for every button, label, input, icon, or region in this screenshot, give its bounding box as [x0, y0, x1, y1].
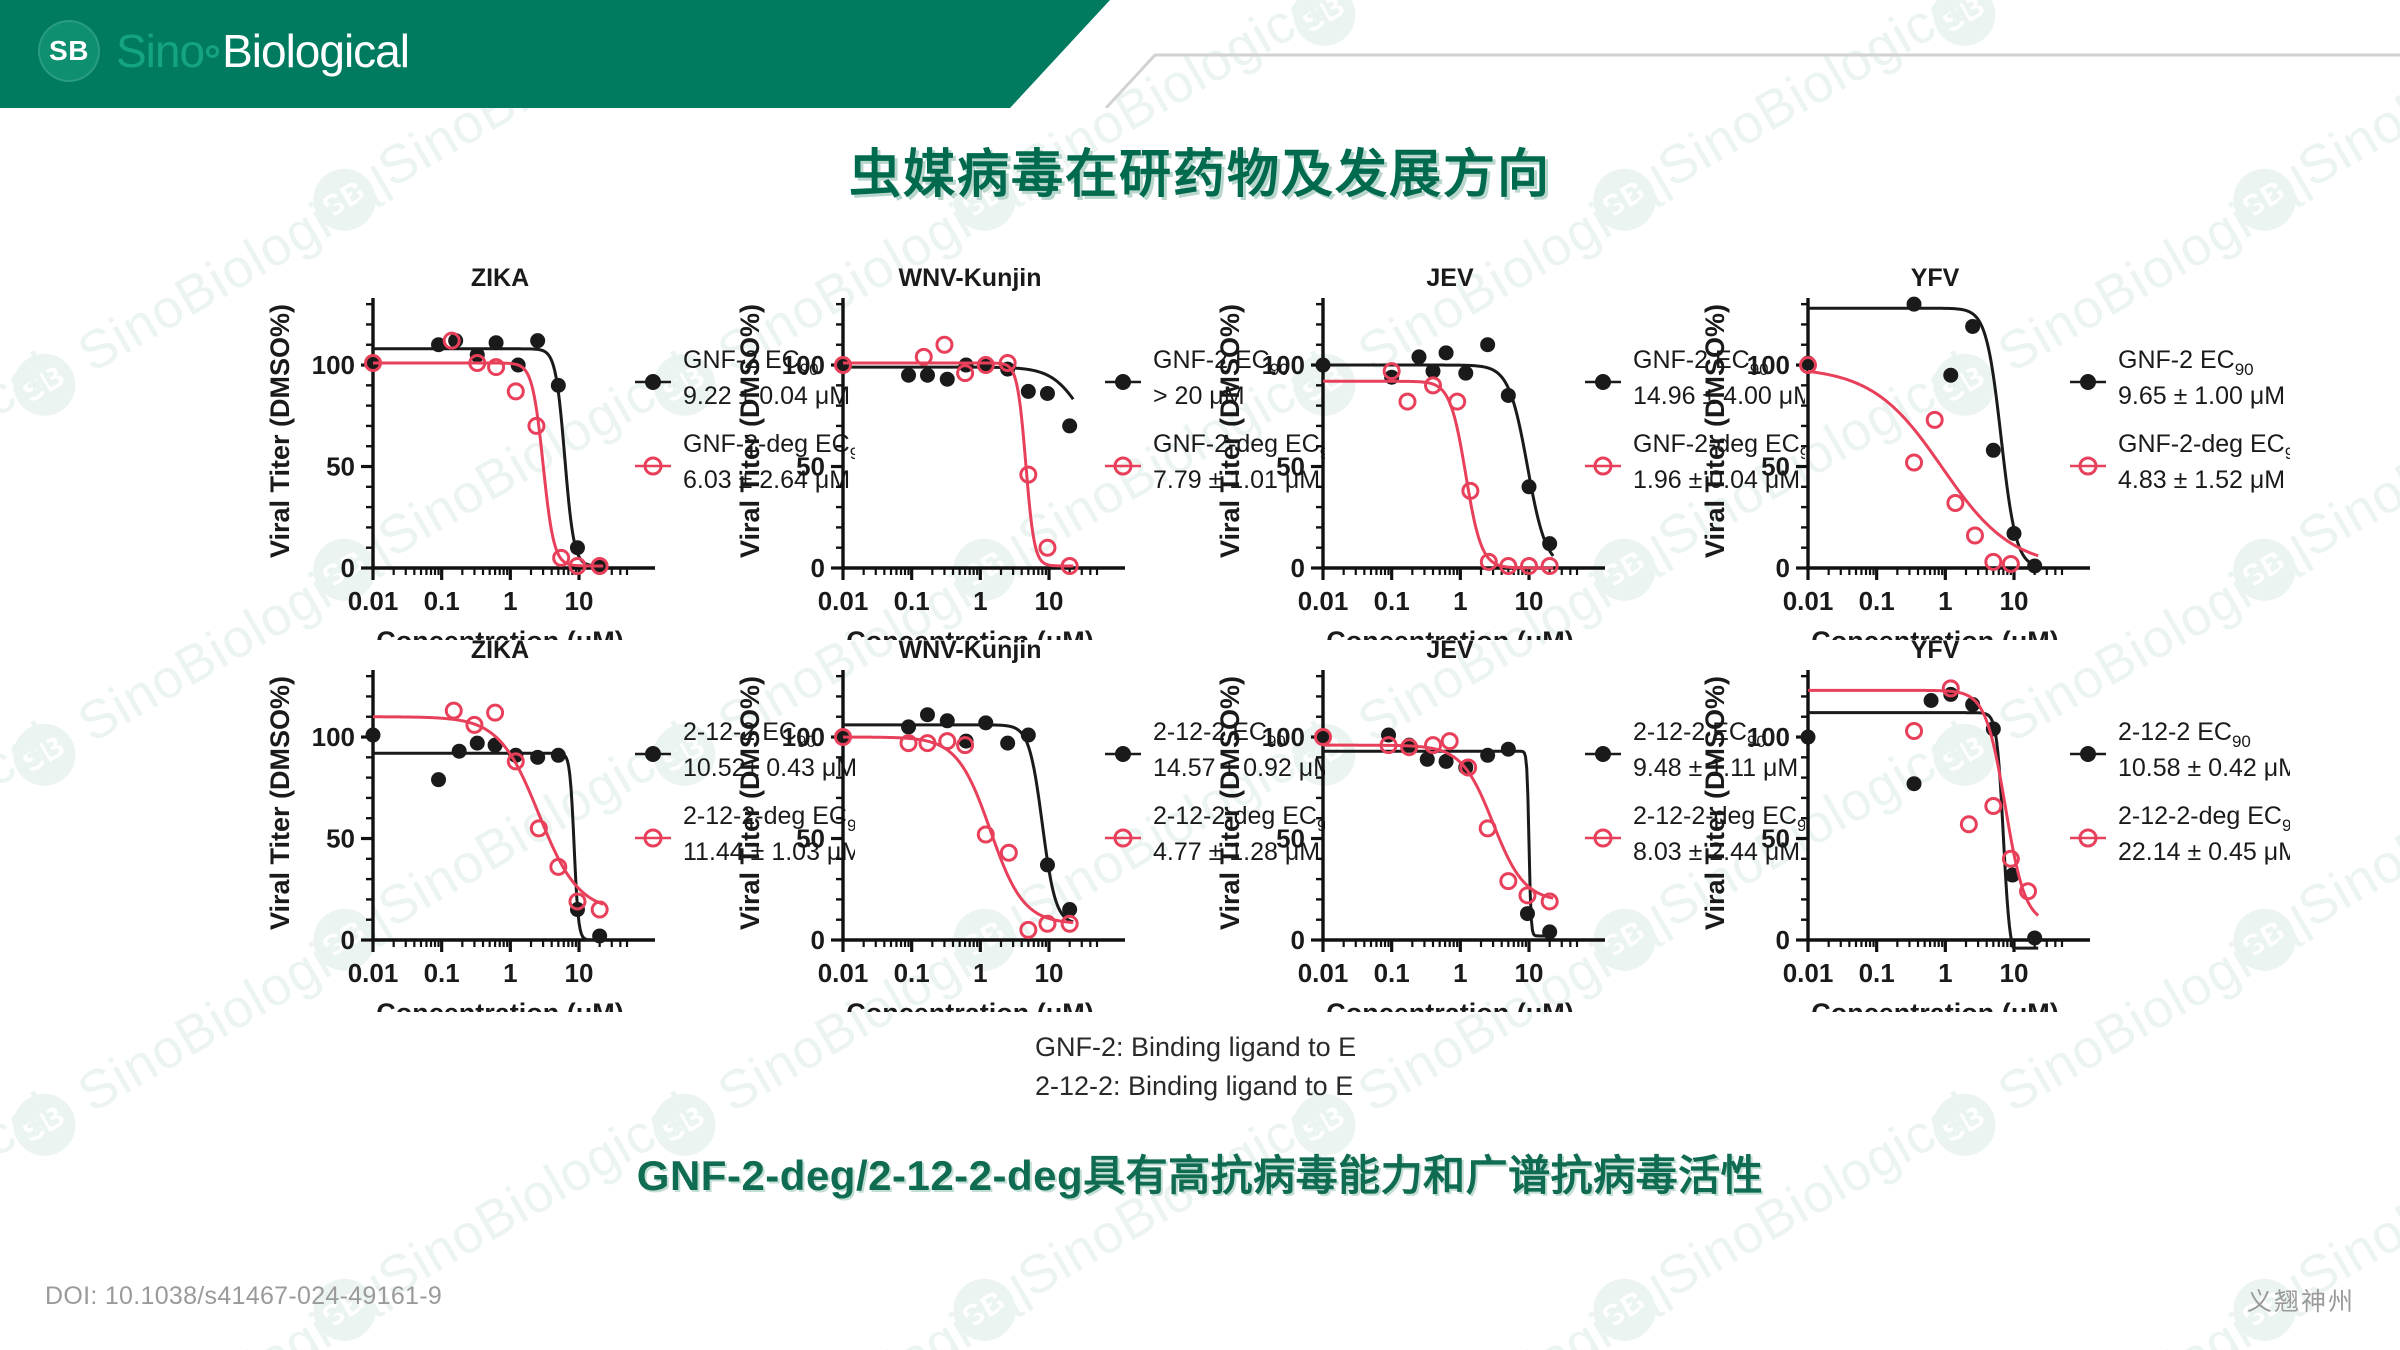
x-axis-label: Concentration (μM): [1326, 626, 1574, 640]
y-tick-label: 100: [312, 350, 355, 380]
data-point: [1986, 799, 2001, 814]
legend-marker-filled-icon: [2080, 746, 2096, 762]
data-point: [1021, 922, 1036, 937]
data-point: [1927, 412, 1942, 427]
fit-curve: [373, 349, 603, 566]
logo-text-sino: Sino: [116, 25, 204, 77]
watermark-item: SBSinoBiological: [1280, 1264, 1686, 1350]
watermark-item: SBSinoBiological: [640, 1264, 1046, 1350]
fit-curve: [843, 725, 1073, 922]
x-tick-label: 0.1: [424, 958, 460, 988]
data-point: [1480, 337, 1495, 352]
data-point: [470, 736, 485, 751]
x-tick-label: 10: [1035, 958, 1064, 988]
fit-curve: [1323, 751, 1553, 936]
data-point: [1021, 384, 1036, 399]
x-tick-label: 0.01: [818, 958, 869, 988]
x-tick-label: 10: [1035, 586, 1064, 616]
x-tick-label: 10: [1515, 958, 1544, 988]
footer-doi: DOI: 10.1038/s41467-024-49161-9: [45, 1282, 442, 1311]
header-accent-rule: [1060, 0, 2400, 108]
legend-value: 4.83 ± 1.52 μM: [2118, 466, 2285, 494]
data-point: [1501, 742, 1516, 757]
y-axis-label: Viral Titer (DMSO%): [735, 304, 765, 558]
y-axis-label: Viral Titer (DMSO%): [1700, 676, 1730, 930]
data-point: [978, 715, 993, 730]
fit-curve: [1323, 745, 1553, 898]
chart-title: JEV: [1426, 268, 1474, 292]
x-axis-ticks: 0.010.1110: [348, 568, 627, 616]
data-point: [1520, 888, 1535, 903]
legend-entry: 2-12-2 EC9010.58 ± 0.42 μM: [2070, 718, 2290, 782]
data-point: [530, 333, 545, 348]
series-2: [1323, 364, 1557, 574]
axes: [843, 298, 1125, 568]
fit-curve: [1323, 381, 1553, 568]
fit-curve: [373, 363, 603, 566]
y-tick-label: 100: [782, 722, 825, 752]
x-axis-ticks: 0.010.1110: [348, 940, 627, 988]
chart-title: ZIKA: [471, 268, 529, 292]
y-tick-label: 100: [782, 350, 825, 380]
series-1: [1316, 728, 1558, 940]
data-point: [2007, 526, 2022, 541]
data-point: [1450, 394, 1465, 409]
data-point: [1439, 345, 1454, 360]
data-point: [920, 707, 935, 722]
y-axis-ticks: 050100: [782, 304, 843, 583]
data-point: [1522, 479, 1537, 494]
data-point: [1000, 736, 1015, 751]
series-1: [1316, 337, 1558, 556]
data-point: [551, 378, 566, 393]
fit-curve: [1808, 690, 2038, 915]
charts-grid: ZIKA0501000.010.1110Concentration (μM)Vi…: [0, 268, 2400, 1012]
data-point: [1907, 297, 1922, 312]
legend-marker-filled-icon: [645, 746, 661, 762]
fit-curve: [843, 363, 1073, 566]
axes: [1808, 298, 2090, 568]
y-tick-label: 100: [1262, 722, 1305, 752]
series-2: [836, 730, 1078, 938]
y-tick-label: 50: [796, 824, 825, 854]
legend-entry: 2-12-2-deg EC9022.14 ± 0.45 μM: [2070, 802, 2290, 866]
chart-row-bottom: ZIKA0501000.010.1110Concentration (μM)Vi…: [0, 640, 2400, 1012]
data-point: [1961, 817, 1976, 832]
footnote-2-12-2: 2-12-2: Binding ligand to E: [1035, 1067, 1356, 1106]
data-point: [1021, 728, 1036, 743]
watermark-item: SBSinoBiological: [940, 1079, 1346, 1350]
legend-label: GNF-2-deg EC90: [2118, 430, 2290, 463]
x-tick-label: 0.1: [1374, 958, 1410, 988]
legend-label: 2-12-2 EC90: [2118, 718, 2251, 751]
series-1: [836, 707, 1078, 922]
axes: [1323, 670, 1605, 940]
y-tick-label: 50: [1761, 824, 1790, 854]
y-tick-label: 100: [312, 722, 355, 752]
chart-title: WNV-Kunjin: [898, 640, 1041, 664]
x-tick-label: 10: [1515, 586, 1544, 616]
y-axis-label: Viral Titer (DMSO%): [1215, 304, 1245, 558]
data-point: [488, 705, 503, 720]
x-tick-label: 0.1: [1859, 586, 1895, 616]
x-tick-label: 0.01: [1783, 586, 1834, 616]
y-tick-label: 0: [811, 925, 825, 955]
series-1: [1801, 297, 2043, 574]
series-2: [1316, 730, 1558, 909]
data-point: [1520, 906, 1535, 921]
y-tick-label: 0: [1291, 925, 1305, 955]
data-point: [1316, 358, 1331, 373]
chart-yfv-0: YFV0501000.010.1110Concentration (μM)Vir…: [1690, 268, 2290, 640]
x-tick-label: 10: [565, 586, 594, 616]
y-tick-label: 0: [811, 553, 825, 583]
data-point: [937, 337, 952, 352]
y-axis-ticks: 050100: [1747, 676, 1808, 955]
logo-wordmark: SinoBiological: [116, 28, 409, 74]
y-axis-ticks: 050100: [312, 304, 373, 583]
conclusion-text: GNF-2-deg/2-12-2-deg具有高抗病毒能力和广谱抗病毒活性: [0, 1142, 2400, 1203]
axes: [1323, 298, 1605, 568]
x-axis-ticks: 0.010.1110: [818, 940, 1097, 988]
legend-marker-filled-icon: [1595, 746, 1611, 762]
data-point: [1040, 540, 1055, 555]
y-axis-ticks: 050100: [1262, 676, 1323, 955]
x-tick-label: 1: [1938, 958, 1952, 988]
series-1: [366, 728, 608, 944]
axes: [373, 670, 655, 940]
y-tick-label: 50: [1761, 452, 1790, 482]
footer-brand: 义翘神州: [2247, 1282, 2355, 1318]
fit-curve: [1323, 365, 1553, 556]
chart-title: YFV: [1911, 640, 1960, 664]
data-point: [1411, 349, 1426, 364]
axes: [843, 670, 1125, 940]
chart-title: JEV: [1426, 640, 1474, 664]
x-tick-label: 0.01: [1298, 586, 1349, 616]
data-point: [1501, 874, 1516, 889]
data-point: [1480, 821, 1495, 836]
data-point: [1501, 388, 1516, 403]
legend-marker-filled-icon: [1115, 374, 1131, 390]
data-point: [1062, 916, 1077, 931]
data-point: [1040, 386, 1055, 401]
x-axis-label: Concentration (μM): [376, 998, 624, 1012]
x-tick-label: 10: [565, 958, 594, 988]
data-point: [446, 703, 461, 718]
y-tick-label: 0: [1776, 925, 1790, 955]
data-point: [1924, 693, 1939, 708]
chart-yfv-1: YFV0501000.010.1110Concentration (μM)Vir…: [1690, 640, 2290, 1012]
x-axis-ticks: 0.010.1110: [818, 568, 1097, 616]
y-axis-ticks: 050100: [312, 676, 373, 955]
y-axis-label: Viral Titer (DMSO%): [265, 304, 295, 558]
y-tick-label: 50: [1276, 824, 1305, 854]
data-point: [592, 928, 607, 943]
x-tick-label: 1: [973, 958, 987, 988]
logo-text-biological: Biological: [222, 25, 409, 77]
data-point: [508, 384, 523, 399]
y-tick-label: 100: [1747, 350, 1790, 380]
x-axis-ticks: 0.010.1110: [1298, 568, 1577, 616]
x-tick-label: 0.1: [424, 586, 460, 616]
data-point: [920, 368, 935, 383]
y-tick-label: 0: [341, 925, 355, 955]
x-tick-label: 10: [2000, 586, 2029, 616]
data-point: [940, 372, 955, 387]
logo: SB SinoBiological: [38, 20, 409, 82]
x-axis-label: Concentration (μM): [846, 998, 1094, 1012]
y-axis-label: Viral Titer (DMSO%): [735, 676, 765, 930]
data-point: [1542, 536, 1557, 551]
data-point: [1967, 528, 1982, 543]
data-point: [901, 719, 916, 734]
data-point: [570, 540, 585, 555]
data-point: [1062, 418, 1077, 433]
legend-entry: GNF-2 EC909.65 ± 1.00 μM: [2070, 346, 2285, 410]
series-2: [1808, 681, 2038, 916]
chart-row-top: ZIKA0501000.010.1110Concentration (μM)Vi…: [0, 268, 2400, 640]
data-point: [551, 748, 566, 763]
data-point: [1907, 723, 1922, 738]
y-tick-label: 100: [1747, 722, 1790, 752]
data-point: [1458, 366, 1473, 381]
data-point: [1480, 748, 1495, 763]
y-tick-label: 0: [341, 553, 355, 583]
data-point: [1400, 394, 1415, 409]
y-tick-label: 50: [326, 452, 355, 482]
x-axis-ticks: 0.010.1110: [1298, 940, 1577, 988]
y-axis-label: Viral Titer (DMSO%): [1215, 676, 1245, 930]
footnotes: GNF-2: Binding ligand to E 2-12-2: Bindi…: [1035, 1028, 1356, 1106]
chart-title: WNV-Kunjin: [898, 268, 1041, 292]
x-tick-label: 1: [503, 958, 517, 988]
legend-marker-filled-icon: [1595, 374, 1611, 390]
logo-badge-sb: SB: [38, 20, 100, 82]
data-point: [1001, 845, 1016, 860]
x-tick-label: 1: [1453, 586, 1467, 616]
x-tick-label: 0.1: [894, 958, 930, 988]
footnote-gnf2: GNF-2: Binding ligand to E: [1035, 1028, 1356, 1067]
series-2: [366, 333, 608, 573]
data-point: [2027, 930, 2042, 945]
axes: [373, 298, 655, 568]
legend-label: 2-12-2-deg EC90: [2118, 802, 2290, 835]
x-axis-ticks: 0.010.1110: [1783, 568, 2062, 616]
data-point: [940, 713, 955, 728]
data-point: [489, 335, 504, 350]
y-tick-label: 50: [326, 824, 355, 854]
x-axis-label: Concentration (μM): [1811, 998, 2059, 1012]
data-point: [1907, 776, 1922, 791]
y-axis-label: Viral Titer (DMSO%): [265, 676, 295, 930]
data-point: [431, 772, 446, 787]
series-1: [836, 358, 1078, 434]
y-tick-label: 50: [1276, 452, 1305, 482]
data-point: [1943, 368, 1958, 383]
data-point: [940, 734, 955, 749]
chart-title: YFV: [1911, 268, 1960, 292]
y-tick-label: 0: [1291, 553, 1305, 583]
x-axis-label: Concentration (μM): [1326, 998, 1574, 1012]
data-point: [2027, 558, 2042, 573]
legend-value: 22.14 ± 0.45 μM: [2118, 838, 2290, 866]
x-tick-label: 1: [503, 586, 517, 616]
chart-title: ZIKA: [471, 640, 529, 664]
x-axis-label: Concentration (μM): [376, 626, 624, 640]
x-tick-label: 0.1: [1859, 958, 1895, 988]
fit-curve: [1808, 713, 2038, 948]
data-point: [366, 728, 381, 743]
x-tick-label: 0.01: [348, 958, 399, 988]
fit-curve: [1808, 308, 2038, 566]
x-tick-label: 0.01: [1783, 958, 1834, 988]
data-point: [1801, 730, 1816, 745]
y-tick-label: 100: [1262, 350, 1305, 380]
y-axis-ticks: 050100: [782, 676, 843, 955]
x-tick-label: 1: [1938, 586, 1952, 616]
data-point: [1542, 924, 1557, 939]
x-tick-label: 0.01: [818, 586, 869, 616]
data-point: [452, 744, 467, 759]
data-point: [530, 750, 545, 765]
legend-entry: GNF-2-deg EC904.83 ± 1.52 μM: [2070, 430, 2290, 494]
x-tick-label: 10: [2000, 958, 2029, 988]
data-point: [1907, 455, 1922, 470]
data-point: [529, 418, 544, 433]
y-tick-label: 0: [1776, 553, 1790, 583]
data-point: [1965, 319, 1980, 334]
watermark-item: SBSinoBiological: [1580, 1079, 1986, 1350]
legend-value: 10.58 ± 0.42 μM: [2118, 754, 2290, 782]
data-point: [1986, 443, 2001, 458]
legend-marker-filled-icon: [645, 374, 661, 390]
data-point: [1442, 734, 1457, 749]
y-axis-label: Viral Titer (DMSO%): [1700, 304, 1730, 558]
data-point: [901, 368, 916, 383]
x-tick-label: 0.1: [1374, 586, 1410, 616]
x-axis-label: Concentration (μM): [846, 626, 1094, 640]
x-tick-label: 1: [973, 586, 987, 616]
fit-curve: [373, 753, 603, 940]
legend-marker-filled-icon: [1115, 746, 1131, 762]
x-tick-label: 0.01: [1298, 958, 1349, 988]
series-2: [1801, 358, 2039, 572]
legend-value: 9.65 ± 1.00 μM: [2118, 382, 2285, 410]
data-point: [1948, 496, 1963, 511]
data-point: [1040, 857, 1055, 872]
x-tick-label: 0.1: [894, 586, 930, 616]
axes: [1808, 670, 2090, 940]
y-tick-label: 50: [796, 452, 825, 482]
series-1: [366, 333, 608, 573]
page-title: 虫媒病毒在研药物及发展方向: [0, 132, 2400, 207]
y-axis-ticks: 050100: [1747, 304, 1808, 583]
x-tick-label: 0.01: [348, 586, 399, 616]
fit-curve: [843, 737, 1073, 922]
x-tick-label: 1: [1453, 958, 1467, 988]
y-axis-ticks: 050100: [1262, 304, 1323, 583]
legend-marker-filled-icon: [2080, 374, 2096, 390]
x-axis-label: Concentration (μM): [1811, 626, 2059, 640]
legend-label: GNF-2 EC90: [2118, 346, 2254, 379]
logo-dot-icon: [206, 45, 219, 58]
